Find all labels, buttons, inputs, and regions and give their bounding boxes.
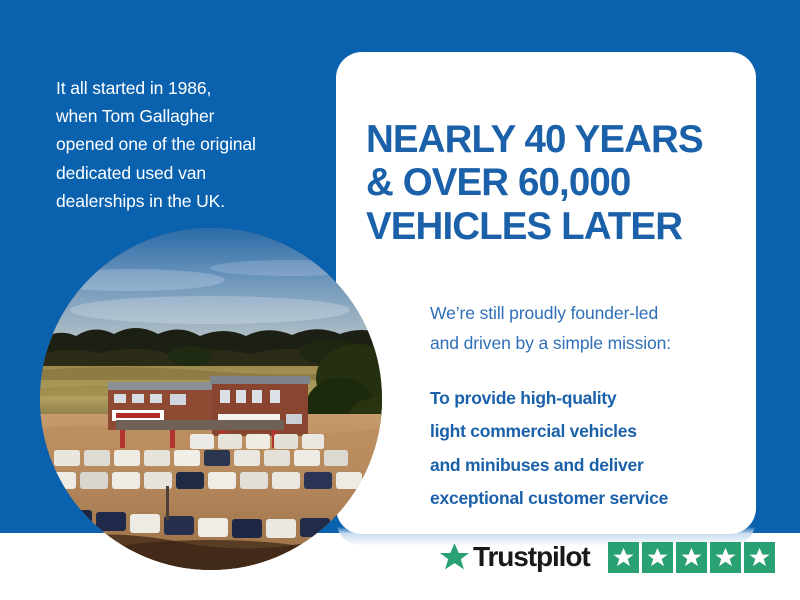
dealership-photo (40, 228, 382, 570)
intro-paragraph: It all started in 1986, when Tom Gallagh… (56, 74, 316, 216)
trustpilot-badge[interactable]: Trustpilot (438, 540, 775, 574)
headline: NEARLY 40 YEARS & OVER 60,000 VEHICLES L… (366, 118, 738, 249)
rating-star-1 (608, 542, 639, 573)
trustpilot-wordmark: Trustpilot (473, 543, 590, 571)
rating-star-3 (676, 542, 707, 573)
trustpilot-rating-stars (608, 542, 775, 573)
promo-banner: It all started in 1986, when Tom Gallagh… (0, 0, 800, 600)
rating-star-5 (744, 542, 775, 573)
content-card: NEARLY 40 YEARS & OVER 60,000 VEHICLES L… (336, 52, 756, 534)
rating-star-2 (642, 542, 673, 573)
rating-star-4 (710, 542, 741, 573)
trustpilot-star-icon (438, 541, 471, 574)
mission-statement: To provide high-quality light commercial… (430, 382, 730, 516)
lede-paragraph: We’re still proudly founder-led and driv… (430, 298, 730, 358)
